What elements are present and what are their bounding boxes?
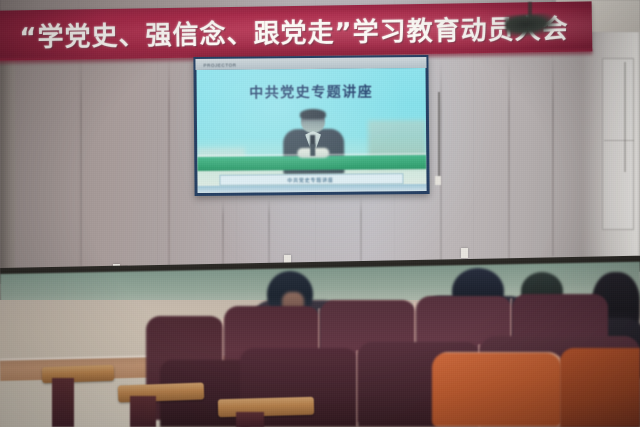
video-speaker-hair — [300, 109, 326, 119]
seat-cushion-orange-right[interactable] — [560, 348, 640, 427]
armrest-center — [218, 397, 314, 418]
wall-seam — [552, 56, 554, 256]
window-frame — [602, 58, 634, 230]
cable-connector — [435, 176, 441, 185]
wall-left-corner — [0, 36, 15, 306]
window-rail — [624, 62, 626, 172]
window-mullion — [604, 140, 634, 141]
armrest-post — [130, 396, 156, 427]
ceiling-projector-icon — [504, 12, 557, 38]
projection-screen[interactable]: PROJECTOR 中共党史专题讲座 中共党史专题讲座 — [193, 55, 429, 196]
wall-outlet — [461, 248, 468, 258]
auditorium-photo: “学党史、强信念、跟党走”学习教育动员大会 PROJECTOR 中共党史专题讲座… — [0, 0, 640, 427]
hanging-cable — [438, 92, 440, 180]
wall-seam — [508, 58, 510, 260]
wall-seam — [80, 52, 82, 266]
armrest-post — [52, 378, 74, 427]
microphone-icon — [310, 144, 315, 156]
video-title: 中共党史专题讲座 — [197, 81, 426, 103]
screen-logo: PROJECTOR — [203, 63, 236, 68]
event-banner: “学党史、强信念、跟党走”学习教育动员大会 — [0, 1, 592, 60]
projected-video: 中共党史专题讲座 中共党史专题讲座 — [197, 68, 427, 193]
armrest-post — [236, 412, 264, 427]
seat-cushion-orange[interactable] — [432, 352, 564, 427]
